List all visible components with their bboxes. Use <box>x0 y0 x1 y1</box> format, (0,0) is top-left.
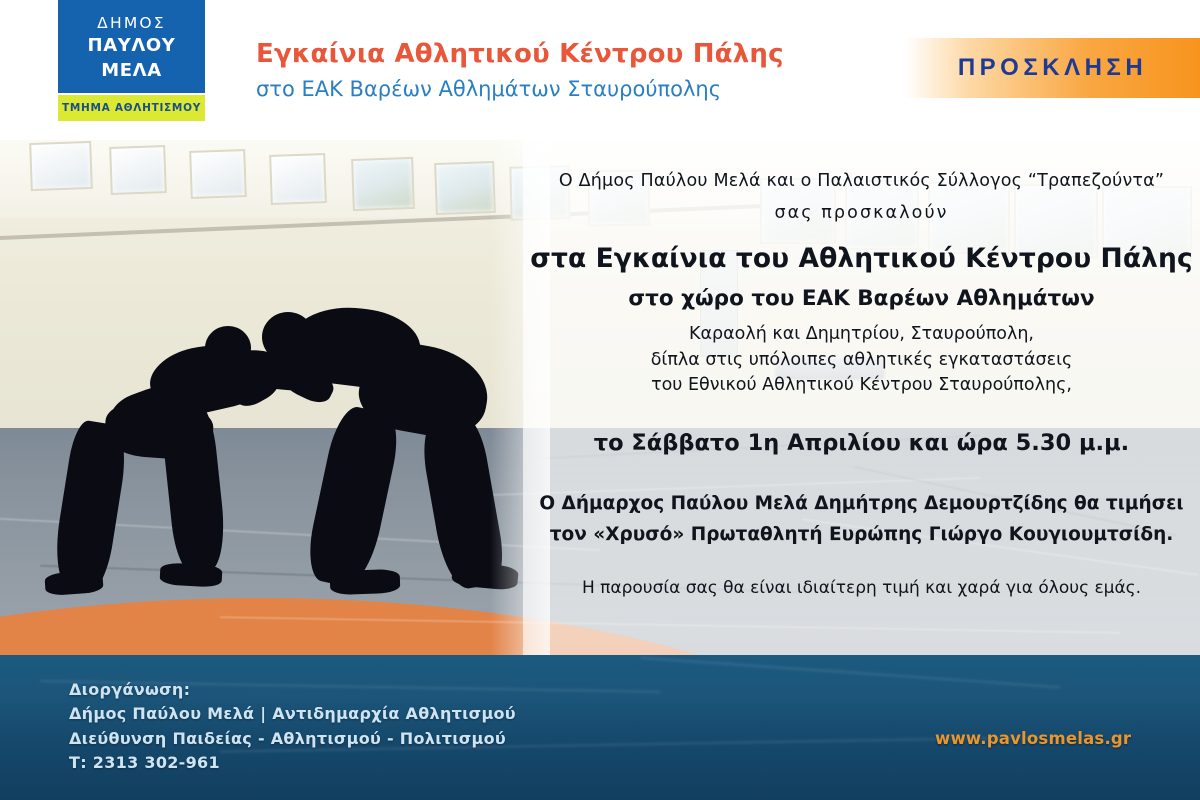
invitation-content: Ο Δήμος Παύλου Μελά και ο Παλαιστικός Σύ… <box>523 140 1200 660</box>
municipality-logo: ΔΗΜΟΣ ΠΑΥΛΟΥ ΜΕΛΑ ΤΜΗΜΑ ΑΘΛΗΤΙΣΜΟΥ <box>58 0 205 121</box>
gym-window <box>269 153 327 205</box>
gym-window <box>351 157 415 211</box>
invitation-poster: ΔΗΜΟΣ ΠΑΥΛΟΥ ΜΕΛΑ ΤΜΗΜΑ ΑΘΛΗΤΙΣΜΟΥ Εγκαί… <box>0 0 1200 800</box>
website-link[interactable]: www.pavlosmelas.gr <box>935 729 1131 748</box>
organizer-phone: Τ: 2313 302-961 <box>69 751 516 775</box>
gym-window <box>29 141 93 191</box>
invitation-badge: ΠΡΟΣΚΛΗΣΗ <box>905 38 1200 98</box>
venue-address-line-2: δίπλα στις υπόλοιπες αθλητικές εγκαταστά… <box>523 349 1200 372</box>
intro-line-2: σας προσκαλούν <box>523 202 1200 225</box>
poster-header: ΔΗΜΟΣ ΠΑΥΛΟΥ ΜΕΛΑ ΤΜΗΜΑ ΑΘΛΗΤΙΣΜΟΥ Εγκαί… <box>0 0 1200 140</box>
organizer-info: Διοργάνωση: Δήμος Παύλου Μελά | Αντιδημα… <box>69 678 516 775</box>
logo-main-block: ΔΗΜΟΣ ΠΑΥΛΟΥ ΜΕΛΑ <box>58 0 205 93</box>
event-datetime: το Σάββατο 1η Απριλίου και ώρα 5.30 μ.μ. <box>523 429 1200 458</box>
venue-address-line-3: του Εθνικού Αθλητικού Κέντρου Σταυρούπολ… <box>523 374 1200 397</box>
closing-line: Η παρουσία σας θα είναι ιδιαίτερη τιμή κ… <box>523 577 1200 599</box>
logo-sports-department: ΤΜΗΜΑ ΑΘΛΗΤΙΣΜΟΥ <box>58 95 205 121</box>
venue-address-line-1: Καραολή και Δημητρίου, Σταυρούπολη, <box>523 323 1200 346</box>
poster-title-block: Εγκαίνια Αθλητικού Κέντρου Πάλης στο ΕΑΚ… <box>256 38 784 103</box>
page-title: Εγκαίνια Αθλητικού Κέντρου Πάλης <box>256 38 784 72</box>
organizer-line-2: Διεύθυνση Παιδείας - Αθλητισμού - Πολιτι… <box>69 727 516 751</box>
status-badge: ΠΡΟΣΚΛΗΣΗ <box>958 54 1147 82</box>
page-subtitle: στο ΕΑΚ Βαρέων Αθλημάτων Σταυρούπολης <box>256 76 784 103</box>
footer-texture <box>640 656 1059 688</box>
gym-window <box>109 145 167 195</box>
event-headline-2: στο χώρο του ΕΑΚ Βαρέων Αθλημάτων <box>523 285 1200 313</box>
logo-line-pavlou-mela: ΠΑΥΛΟΥ ΜΕΛΑ <box>62 34 201 83</box>
logo-line-dimos: ΔΗΜΟΣ <box>62 14 201 33</box>
gym-window <box>434 161 496 215</box>
honoree-line-1: Ο Δήμαρχος Παύλου Μελά Δημήτρης Δεμουρτζ… <box>523 492 1200 516</box>
event-headline-1: στα Εγκαίνια του Αθλητικού Κέντρου Πάλης <box>523 242 1200 276</box>
intro-line-1: Ο Δήμος Παύλου Μελά και ο Παλαιστικός Σύ… <box>523 170 1200 193</box>
honoree-line-2: τον «Χρυσό» Πρωταθλητή Ευρώπης Γιώργο Κο… <box>523 523 1200 547</box>
organizer-line-1: Δήμος Παύλου Μελά | Αντιδημαρχία Αθλητισ… <box>69 702 516 726</box>
organizer-label: Διοργάνωση: <box>69 678 516 702</box>
gym-window <box>189 149 247 199</box>
